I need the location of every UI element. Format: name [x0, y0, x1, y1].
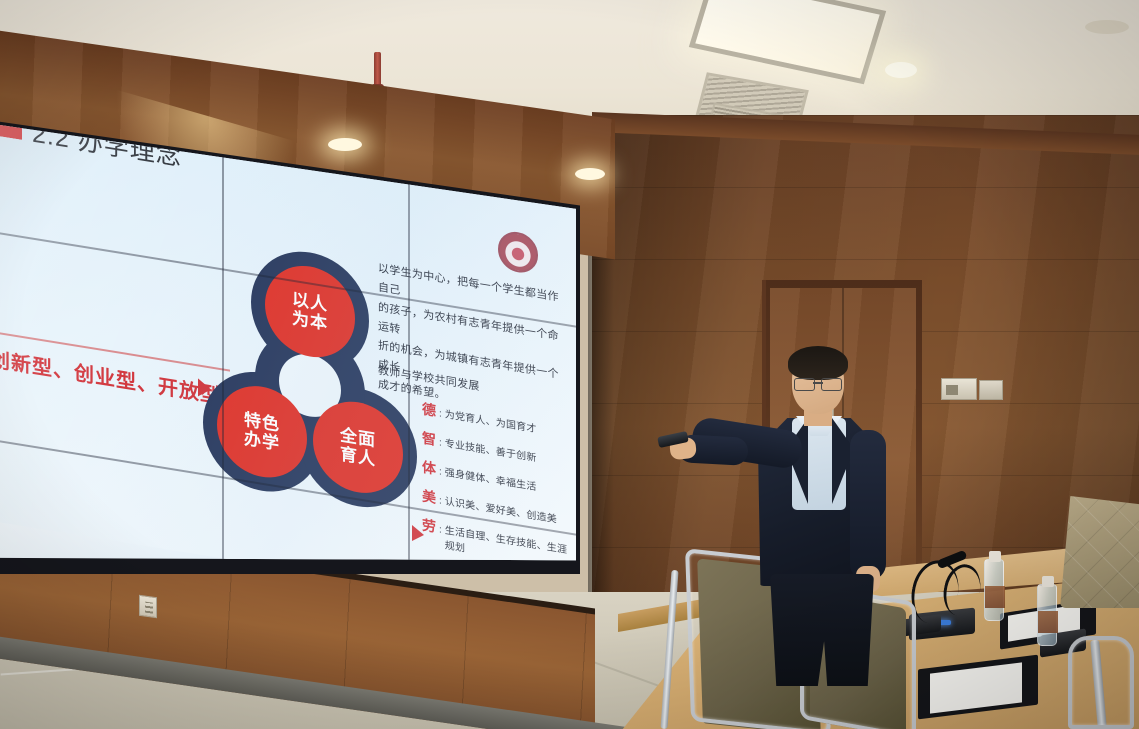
chair-frame [1068, 636, 1134, 729]
wall-plate [979, 380, 1003, 400]
value-colon: : [439, 466, 442, 477]
video-wall-display[interactable]: 2.2 办学理念 创新型、创业型、开放型 [0, 86, 576, 570]
value-colon: : [439, 524, 442, 535]
wall-outlet[interactable] [139, 595, 157, 619]
value-text: 专业技能、善于创新 [445, 434, 537, 464]
school-emblem [498, 229, 538, 275]
recessed-downlight [885, 62, 917, 78]
bottle-label [1038, 611, 1058, 633]
water-bottle [1037, 584, 1057, 646]
value-key: 劳 [422, 515, 436, 537]
conference-chair-far[interactable] [1060, 496, 1139, 608]
slide-value-list: 德 : 为党育人、为国育才 智 : 专业技能、善于创新 体 : 强身健体 [422, 399, 572, 570]
slide-title: 2.2 办学理念 [32, 114, 182, 174]
value-colon: : [439, 408, 442, 419]
round-ceiling-vent [1085, 20, 1129, 34]
wall-control-panel[interactable] [941, 378, 977, 400]
value-key: 美 [422, 486, 436, 508]
value-key: 体 [422, 457, 436, 479]
video-wall-seam [222, 86, 224, 570]
value-text: 强身健体、幸福生活 [445, 463, 537, 493]
presenter-legs [770, 574, 874, 686]
fire-sprinkler [374, 52, 381, 86]
glasses-icon [794, 378, 842, 389]
presentation-slide: 2.2 办学理念 创新型、创业型、开放型 [0, 86, 576, 570]
value-colon: : [439, 495, 442, 506]
bottle-cap [1042, 576, 1054, 587]
value-colon: : [439, 437, 442, 448]
presenter-arm-down [850, 430, 886, 580]
presenter-hair [788, 346, 848, 380]
value-key: 德 [422, 399, 436, 421]
value-key: 智 [422, 428, 436, 450]
bottle-label [985, 586, 1005, 608]
presenter [700, 352, 910, 682]
lcd-video-wall[interactable]: 2.2 办学理念 创新型、创业型、开放型 [0, 86, 580, 574]
bottle-cap [989, 551, 1001, 562]
video-wall-seam [408, 86, 410, 570]
slide-left-highlight: 创新型、创业型、开放型 [0, 343, 221, 409]
conference-room-scene: 2.2 办学理念 创新型、创业型、开放型 [0, 0, 1139, 729]
water-bottle [984, 559, 1004, 621]
